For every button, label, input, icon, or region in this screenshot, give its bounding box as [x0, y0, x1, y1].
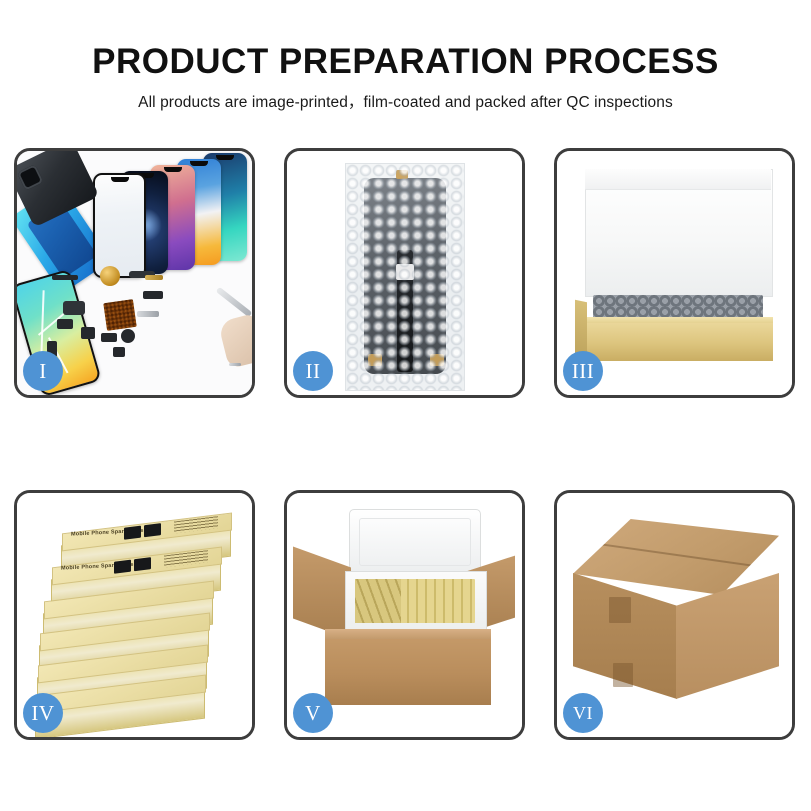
step-badge-3: III	[563, 351, 603, 391]
screw-part	[229, 363, 241, 366]
page-title: PRODUCT PREPARATION PROCESS	[0, 44, 811, 81]
lid-fold-edge	[585, 169, 771, 190]
page-header: PRODUCT PREPARATION PROCESS All products…	[0, 0, 811, 112]
tweezers-tool	[216, 287, 252, 318]
earpiece-speaker-part	[52, 275, 78, 280]
speaker-round-part	[121, 329, 135, 343]
box-phone-thumb-2	[134, 557, 151, 571]
carton-right-face	[676, 573, 779, 699]
step-panel-2: II	[284, 148, 525, 398]
tempered-glass-panel	[93, 173, 146, 278]
connector-part	[101, 333, 117, 342]
bubble-texture	[346, 164, 464, 390]
screw-set-part	[113, 347, 125, 357]
metal-bracket-part	[137, 311, 159, 317]
box-phone-thumb-1	[114, 560, 131, 574]
box-stack: Mobile Phone Spare Parts Mobile Phone Sp…	[27, 507, 245, 729]
carton-flap-left	[293, 546, 351, 639]
shipping-carton-body	[325, 629, 491, 705]
step-badge-2: II	[293, 351, 333, 391]
foam-box-lid	[349, 509, 481, 575]
button-part	[81, 327, 95, 339]
small-ic-part	[57, 319, 73, 329]
carton-tape-upper	[609, 597, 631, 623]
process-steps-grid: I II	[14, 148, 797, 740]
box-phone-thumb-1	[124, 526, 141, 540]
kraft-box-base	[583, 323, 773, 361]
step-badge-1: I	[23, 351, 63, 391]
flex-cable-part-2	[63, 301, 85, 315]
step-panel-5: V	[284, 490, 525, 740]
box-phone-thumb-2	[144, 523, 161, 537]
vibration-motor-part	[100, 266, 120, 286]
page-subtitle: All products are image-printed，film-coat…	[0, 90, 811, 112]
step-panel-6: VI	[554, 490, 795, 740]
carton-tape-lower	[613, 663, 633, 687]
step-badge-6: VI	[563, 693, 603, 733]
packed-boxes-contents-angled	[355, 579, 401, 623]
gold-connector-part	[145, 275, 163, 280]
phone-back-housing	[17, 151, 99, 228]
step-badge-4: IV	[23, 693, 63, 733]
bubble-wrap-bag	[345, 163, 465, 391]
step-panel-4: Mobile Phone Spare Parts Mobile Phone Sp…	[14, 490, 255, 740]
camera-module-part	[143, 291, 163, 299]
technician-hand	[218, 313, 252, 369]
step-panel-1: I	[14, 148, 255, 398]
chip-array-part	[103, 299, 137, 331]
step-badge-5: V	[293, 693, 333, 733]
step-panel-3: III	[554, 148, 795, 398]
product-preparation-page: PRODUCT PREPARATION PROCESS All products…	[0, 0, 811, 811]
